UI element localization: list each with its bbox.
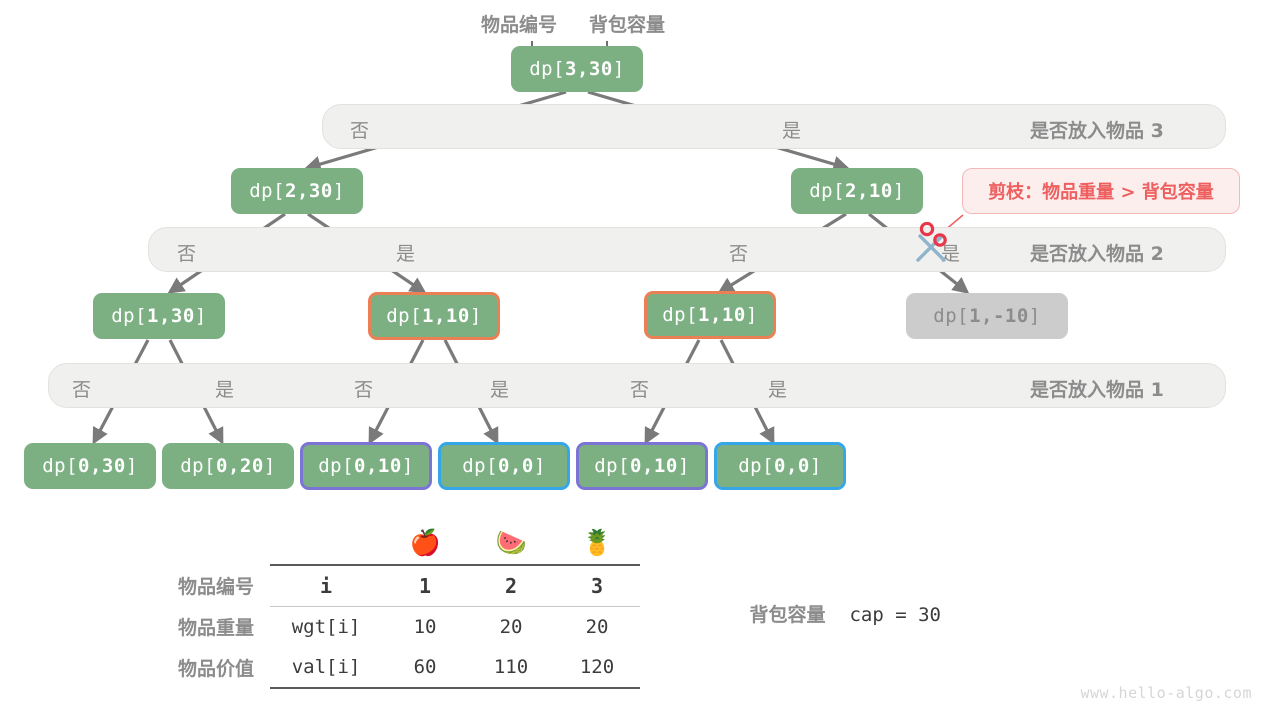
tree-node-leaf-dp0-0-a[interactable]: dp[0,0] (438, 442, 570, 490)
cell-value-2: 110 (468, 647, 554, 688)
tree-node-root[interactable]: dp[3,30] (511, 46, 643, 92)
table-emoji-row: 🍎 🍉 🍍 (178, 522, 640, 565)
row-key-i: i (270, 565, 382, 607)
cell-value-3: 120 (554, 647, 640, 688)
cell-weight-3: 20 (554, 607, 640, 648)
level-title-3: 是否放入物品 3 (1030, 116, 1164, 143)
branch-label-l3-yes: 是 (782, 116, 801, 143)
tree-node-leaf-dp0-0-b[interactable]: dp[0,0] (714, 442, 846, 490)
table-row-weight: 物品重量 wgt[i] 10 20 20 (178, 607, 640, 648)
tree-node-leaf-dp0-30[interactable]: dp[0,30] (24, 443, 156, 489)
level-title-2: 是否放入物品 2 (1030, 239, 1164, 266)
branch-label-l1-yes-a: 是 (215, 375, 234, 402)
branch-label-l1-no-b: 否 (354, 375, 373, 402)
diagram-canvas: 物品编号 背包容量 是否放入物品 3 是否放入物品 2 是否放入物品 1 否 是… (0, 0, 1280, 720)
capacity-note-expr: cap = 30 (849, 604, 941, 626)
branch-label-l2-no-a: 否 (177, 239, 196, 266)
row-key-val: val[i] (270, 647, 382, 688)
cell-index-1: 1 (382, 565, 468, 607)
tree-node-dp1-neg10[interactable]: dp[1,-10] (906, 293, 1068, 339)
tree-node-dp1-10-a[interactable]: dp[1,10] (368, 292, 500, 340)
branch-label-l1-yes-b: 是 (490, 375, 509, 402)
cell-weight-2: 20 (468, 607, 554, 648)
branch-label-l1-no-a: 否 (72, 375, 91, 402)
tree-node-dp1-10-b[interactable]: dp[1,10] (644, 291, 776, 339)
emoji-firstcol-spacer (270, 522, 382, 565)
cell-value-1: 60 (382, 647, 468, 688)
tree-node-leaf-dp0-10-b[interactable]: dp[0,10] (576, 442, 708, 490)
watermark: www.hello-algo.com (1080, 684, 1252, 702)
row-label-item-weight: 物品重量 (178, 607, 270, 648)
level-title-1: 是否放入物品 1 (1030, 375, 1164, 402)
tree-node-dp1-30[interactable]: dp[1,30] (93, 293, 225, 339)
branch-label-l3-no: 否 (350, 116, 369, 143)
prune-annotation: 剪枝：物品重量 > 背包容量 (962, 168, 1240, 214)
tree-node-leaf-dp0-10-a[interactable]: dp[0,10] (300, 442, 432, 490)
branch-label-l2-no-b: 否 (729, 239, 748, 266)
row-label-item-index: 物品编号 (178, 565, 270, 607)
scissors-icon (908, 222, 954, 266)
caption-bag-capacity: 背包容量 (589, 10, 665, 37)
table-row-index: 物品编号 i 1 2 3 (178, 565, 640, 607)
item-emoji-3: 🍍 (554, 522, 640, 565)
capacity-note: 背包容量cap = 30 (723, 578, 941, 649)
tree-node-leaf-dp0-20[interactable]: dp[0,20] (162, 443, 294, 489)
cell-index-2: 2 (468, 565, 554, 607)
tree-node-dp2-10[interactable]: dp[2,10] (791, 168, 923, 214)
table-row-value: 物品价值 val[i] 60 110 120 (178, 647, 640, 688)
emoji-row-spacer (178, 522, 270, 565)
branch-label-l2-yes-a: 是 (396, 239, 415, 266)
tree-node-dp2-30[interactable]: dp[2,30] (231, 168, 363, 214)
item-emoji-2: 🍉 (468, 522, 554, 565)
capacity-note-label: 背包容量 (749, 604, 825, 626)
cell-index-3: 3 (554, 565, 640, 607)
row-key-wgt: wgt[i] (270, 607, 382, 648)
item-emoji-1: 🍎 (382, 522, 468, 565)
branch-label-l1-yes-c: 是 (768, 375, 787, 402)
cell-weight-1: 10 (382, 607, 468, 648)
branch-label-l1-no-c: 否 (630, 375, 649, 402)
item-table: 🍎 🍉 🍍 物品编号 i 1 2 3 物品重量 wgt[i] 10 20 20 … (178, 522, 640, 689)
row-label-item-value: 物品价值 (178, 647, 270, 688)
caption-item-index: 物品编号 (481, 10, 557, 37)
